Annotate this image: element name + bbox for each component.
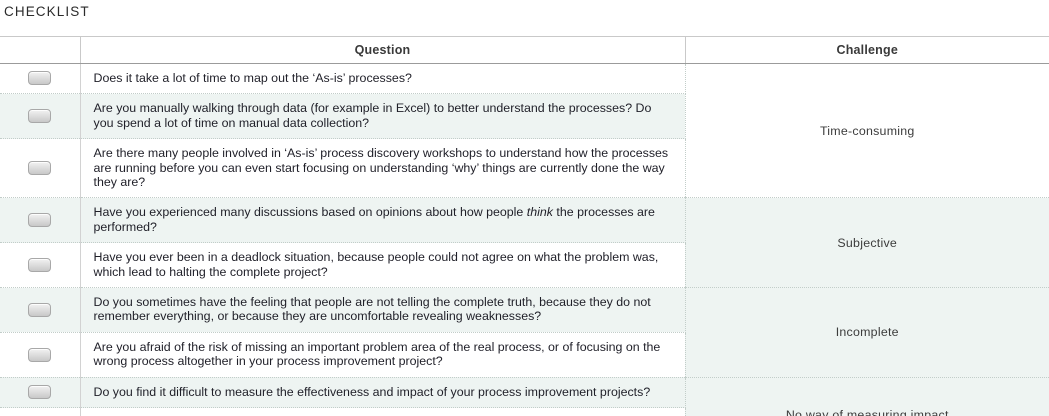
column-header-checkbox [0, 37, 80, 64]
question-cell: Do you find it difficult to measure the … [80, 377, 685, 407]
checkbox-cell[interactable] [0, 139, 80, 198]
checkbox-cell[interactable] [0, 332, 80, 377]
question-text: Are there many people involved in ‘As-is… [94, 146, 669, 189]
question-cell: Do you see the risk that teams could sli… [80, 408, 685, 416]
table-row: Have you experienced many discussions ba… [0, 198, 1049, 243]
question-text: Do you find it difficult to measure the … [94, 385, 651, 399]
question-text: Do you sometimes have the feeling that p… [94, 295, 651, 323]
checkbox-toggle[interactable] [28, 109, 51, 123]
checkbox-cell[interactable] [0, 64, 80, 94]
table-row: Do you find it difficult to measure the … [0, 377, 1049, 407]
checkbox-cell[interactable] [0, 198, 80, 243]
question-text: Are you manually walking through data (f… [94, 101, 652, 129]
question-cell: Are you afraid of the risk of missing an… [80, 332, 685, 377]
question-cell: Are you manually walking through data (f… [80, 94, 685, 139]
checkbox-cell[interactable] [0, 288, 80, 333]
table-body: Does it take a lot of time to map out th… [0, 64, 1049, 416]
checkbox-toggle[interactable] [28, 71, 51, 85]
checkbox-cell[interactable] [0, 94, 80, 139]
question-cell: Does it take a lot of time to map out th… [80, 64, 685, 94]
question-text: Are you afraid of the risk of missing an… [94, 340, 661, 368]
challenge-cell: No way of measuring impact [685, 377, 1049, 416]
question-cell: Have you ever been in a deadlock situati… [80, 243, 685, 288]
table-header: Question Challenge [0, 37, 1049, 64]
challenge-cell: Subjective [685, 198, 1049, 288]
checkbox-cell[interactable] [0, 408, 80, 416]
table-row: Does it take a lot of time to map out th… [0, 64, 1049, 94]
table-row: Do you sometimes have the feeling that p… [0, 288, 1049, 333]
column-header-challenge: Challenge [685, 37, 1049, 64]
checklist-table-wrapper: Question Challenge Does it take a lot of… [0, 36, 1049, 409]
checkbox-toggle[interactable] [28, 385, 51, 399]
page-title: CHECKLIST [4, 4, 90, 20]
question-cell: Are there many people involved in ‘As-is… [80, 139, 685, 198]
checklist-table: Question Challenge Does it take a lot of… [0, 36, 1049, 416]
checkbox-toggle[interactable] [28, 348, 51, 362]
question-text: Does it take a lot of time to map out th… [94, 71, 412, 85]
checkbox-toggle[interactable] [28, 161, 51, 175]
checklist-page: CHECKLIST Question Challenge Does it tak… [0, 0, 1049, 416]
challenge-cell: Time-consuming [685, 64, 1049, 198]
column-header-question: Question [80, 37, 685, 64]
question-cell: Do you sometimes have the feeling that p… [80, 288, 685, 333]
question-text: Have you experienced many discussions ba… [94, 205, 527, 219]
header-row: Question Challenge [0, 37, 1049, 64]
question-emphasis: think [527, 205, 553, 219]
checkbox-toggle[interactable] [28, 258, 51, 272]
checkbox-cell[interactable] [0, 243, 80, 288]
checkbox-cell[interactable] [0, 377, 80, 407]
checkbox-toggle[interactable] [28, 213, 51, 227]
question-cell: Have you experienced many discussions ba… [80, 198, 685, 243]
checkbox-toggle[interactable] [28, 303, 51, 317]
question-text: Have you ever been in a deadlock situati… [94, 250, 659, 278]
challenge-cell: Incomplete [685, 288, 1049, 378]
